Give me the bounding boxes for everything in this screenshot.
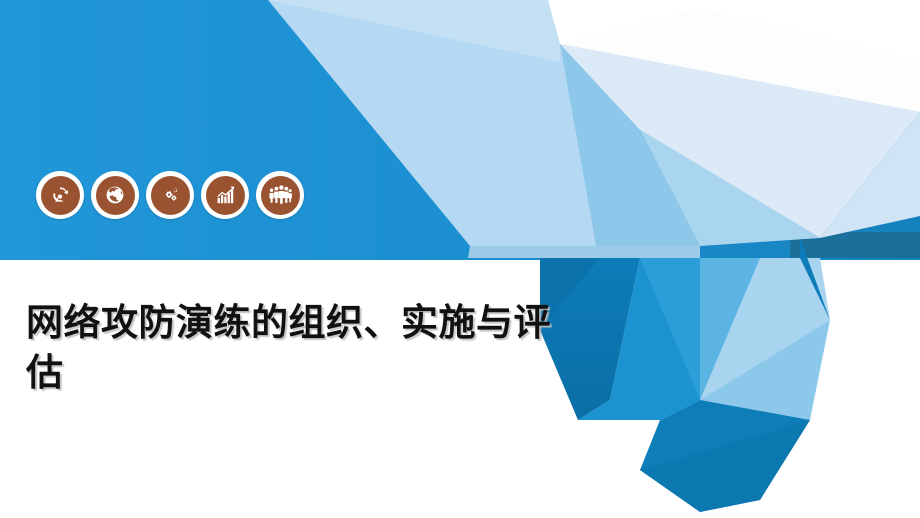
icon-badge-chart xyxy=(201,171,249,219)
recycle-arrow-icon xyxy=(41,176,80,215)
icon-badge-people xyxy=(256,171,304,219)
icon-badge-globe xyxy=(91,171,139,219)
icon-badge-recycle xyxy=(36,171,84,219)
tagline-text: 数智创新 变革未来 xyxy=(719,27,902,57)
presentation-title-slide: 数智创新 变革未来 xyxy=(0,0,920,518)
poly-light-lowband xyxy=(468,246,700,258)
globe-icon xyxy=(96,176,135,215)
page-title: 网络攻防演练的组织、实施与评估 xyxy=(26,298,556,397)
people-group-icon xyxy=(261,176,300,215)
icon-badge-gears xyxy=(146,171,194,219)
icon-strip xyxy=(36,171,304,219)
gears-icon xyxy=(151,176,190,215)
bar-chart-icon xyxy=(206,176,245,215)
background-geometry xyxy=(0,0,920,518)
title-block: 网络攻防演练的组织、实施与评估 xyxy=(26,298,556,397)
